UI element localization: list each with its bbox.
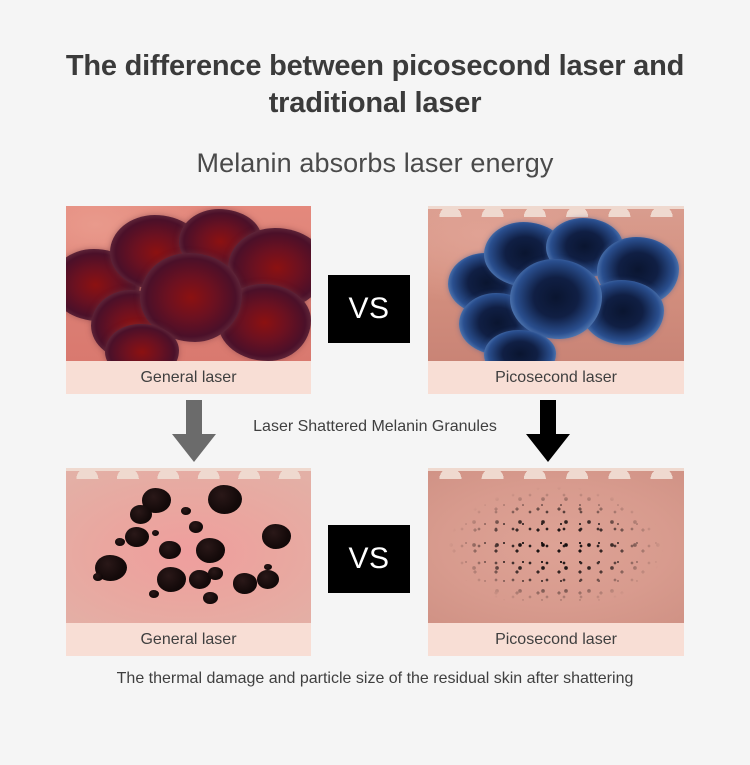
skin-surface-wave — [428, 468, 684, 479]
caption-bottom-left: General laser — [66, 623, 311, 656]
caption-top-right: Picosecond laser — [428, 361, 684, 394]
caption-top-left: General laser — [66, 361, 311, 394]
photo-red-melanin-clusters — [66, 206, 311, 361]
vs-badge-bottom: VS — [328, 525, 410, 593]
blue-melanin-art — [428, 206, 684, 361]
skin-surface-wave — [428, 206, 684, 217]
bottom-caption: The thermal damage and particle size of … — [0, 670, 750, 688]
panel-bottom-left-general-laser: General laser — [66, 468, 311, 656]
skin-surface-wave — [66, 468, 311, 479]
skin-fine-dust-art — [428, 468, 684, 623]
vs-badge-top: VS — [328, 275, 410, 343]
page-title: The difference between picosecond laser … — [0, 48, 750, 122]
page-subtitle: Melanin absorbs laser energy — [0, 148, 750, 179]
skin-large-particles-art — [66, 468, 311, 623]
caption-bottom-right: Picosecond laser — [428, 623, 684, 656]
infographic-page: The difference between picosecond laser … — [0, 0, 750, 765]
photo-large-residual-particles — [66, 468, 311, 623]
photo-fine-shattered-particles — [428, 468, 684, 623]
photo-blue-melanin-clusters — [428, 206, 684, 361]
red-melanin-art — [66, 206, 311, 361]
panel-top-left-general-laser: General laser — [66, 206, 311, 394]
fine-dust-layer — [448, 484, 663, 611]
panel-bottom-right-picosecond-laser: Picosecond laser — [428, 468, 684, 656]
panel-top-right-picosecond-laser: Picosecond laser — [428, 206, 684, 394]
middle-caption: Laser Shattered Melanin Granules — [0, 418, 750, 436]
